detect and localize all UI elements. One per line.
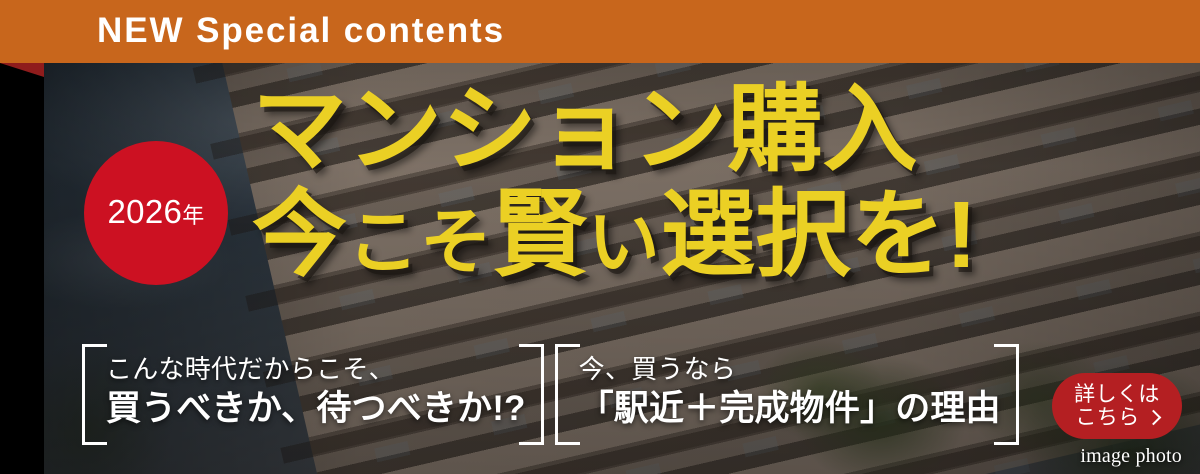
claim-box-right[interactable]: 今、買うなら 「駅近＋完成物件」の理由 xyxy=(555,344,1019,439)
year-badge: 2026年 xyxy=(84,141,228,285)
details-cta-button[interactable]: 詳しくは こちら xyxy=(1052,373,1182,439)
year-badge-number: 2026 xyxy=(107,193,182,230)
promo-banner: NEW Special contents 2026年 マンション購入 今こそ賢い… xyxy=(0,0,1200,474)
headline-line-2-part-2: こそ xyxy=(347,203,492,283)
headline-line-2-part-1: 今 xyxy=(252,182,347,288)
headline-line-2-part-3: 賢 xyxy=(493,182,588,288)
headline-line-2: 今こそ賢い選択を! xyxy=(252,187,977,284)
image-photo-credit: image photo xyxy=(1080,445,1182,468)
header-ribbon-label: NEW Special contents xyxy=(97,11,505,51)
cta-line-1: 詳しくは xyxy=(1074,383,1160,406)
claim-right-top-text: 今、買うなら xyxy=(579,354,1001,386)
claim-right-bottom-text: 「駅近＋完成物件」の理由 xyxy=(579,388,1001,429)
header-ribbon: NEW Special contents xyxy=(0,0,1200,63)
left-black-strip xyxy=(0,55,44,474)
year-badge-text: 2026年 xyxy=(107,193,204,231)
cta-line-2: こちら xyxy=(1075,406,1139,429)
chevron-right-icon xyxy=(1145,409,1161,425)
claim-left-top-text: こんな時代だからこそ、 xyxy=(106,354,526,386)
headline: マンション購入 今こそ賢い選択を! xyxy=(252,82,977,284)
headline-line-2-part-4: い xyxy=(588,203,661,283)
year-badge-suffix: 年 xyxy=(182,203,204,228)
cta-line-2-row: こちら xyxy=(1075,406,1158,429)
claim-left-bottom-text: 買うべきか、待つべきか!? xyxy=(106,388,526,429)
claims-row: こんな時代だからこそ、 買うべきか、待つべきか!? 今、買うなら 「駅近＋完成物… xyxy=(82,344,1019,439)
claim-box-left[interactable]: こんな時代だからこそ、 買うべきか、待つべきか!? xyxy=(82,344,544,439)
headline-line-1: マンション購入 xyxy=(252,82,977,179)
headline-line-2-part-5: 選択を! xyxy=(660,182,977,288)
